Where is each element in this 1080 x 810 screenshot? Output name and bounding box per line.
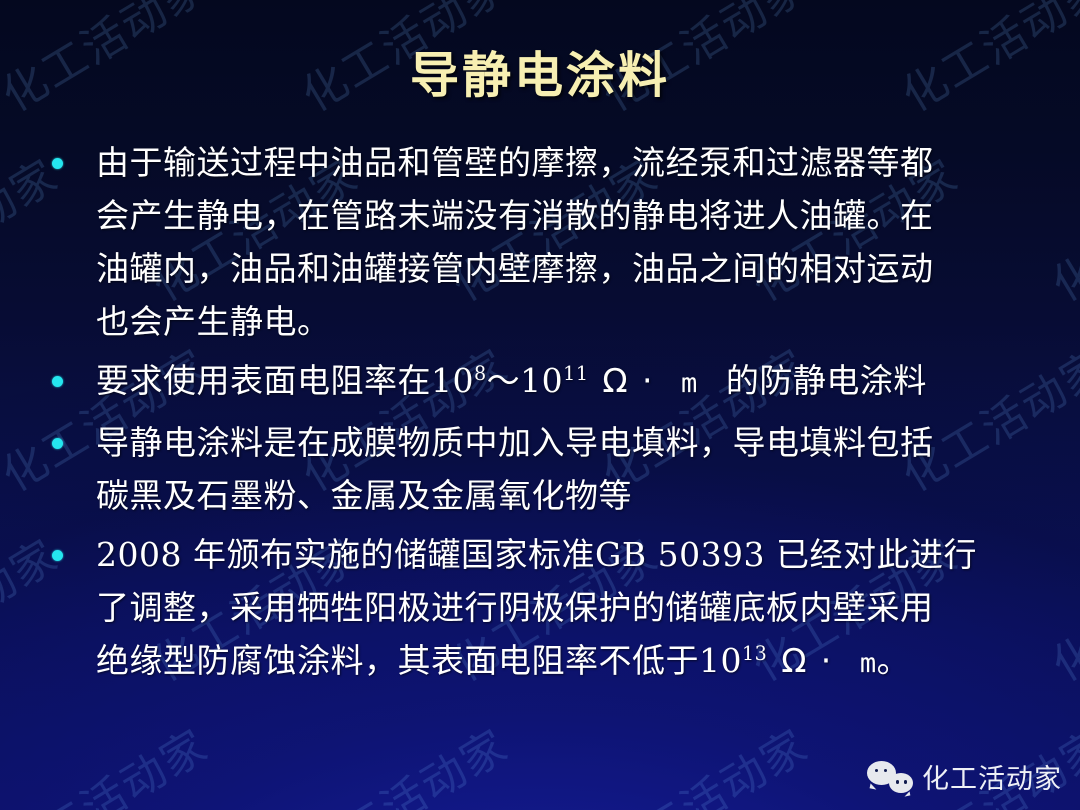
watermark-text: 化工活动家 [1038,140,1080,313]
bullet-marker [52,528,96,565]
page-title: 导静电涂料 [0,36,1080,107]
bullet-item-4: 2008 年颁布实施的储罐国家标准GB 50393 已经对此进行 了调整，采用牺… [52,528,1042,690]
bullet-dot-icon [52,438,63,449]
bullet-marker [52,354,96,391]
wechat-eye [896,780,899,783]
bullet-item-2: 要求使用表面电阻率在108～1011Ω·m的防静电涂料 [52,354,1042,410]
bullet-line: 也会产生静电。 [96,295,1042,348]
bullet-text-1: 由于输送过程中油品和管壁的摩擦，流经泵和过滤器等都 会产生静电，在管路末端没有消… [96,136,1042,348]
bullet-marker [52,136,96,173]
bullet-text-4: 2008 年颁布实施的储罐国家标准GB 50393 已经对此进行 了调整，采用牺… [96,528,1042,690]
wechat-bubble-small [889,773,913,793]
wechat-eye [904,780,907,783]
slide-canvas: 化工活动家化工活动家化工活动家化工活动家化工活动家化工活动家化工活动家化工活动家… [0,0,1080,810]
bullet-line: 要求使用表面电阻率在108～1011Ω·m的防静电涂料 [96,354,1042,410]
bullet-text-2: 要求使用表面电阻率在108～1011Ω·m的防静电涂料 [96,354,1042,410]
bullet-line: 绝缘型防腐蚀涂料，其表面电阻率不低于1013Ω·m。 [96,634,1042,690]
bullet-dot-icon [52,158,63,169]
bullet-line: 油罐内，油品和油罐接管内壁摩擦，油品之间的相对运动 [96,242,1042,295]
watermark-text: 化工活动家 [0,710,218,810]
slide-body: 由于输送过程中油品和管壁的摩擦，流经泵和过滤器等都 会产生静电，在管路末端没有消… [52,136,1042,696]
bullet-line: 了调整，采用牺牲阳极进行阴极保护的储罐底板内壁采用 [96,581,1042,634]
bullet-line: 碳黑及石墨粉、金属及金属氧化物等 [96,469,1042,522]
watermark-text: 化工活动家 [1038,520,1080,693]
bullet-dot-icon [52,376,63,387]
footer-brand: 化工活动家 [867,757,1062,796]
bullet-line: 由于输送过程中油品和管壁的摩擦，流经泵和过滤器等都 [96,136,1042,189]
bullet-line: 导静电涂料是在成膜物质中加入导电填料，导电填料包括 [96,416,1042,469]
wechat-icon [867,761,913,793]
bullet-text-3: 导静电涂料是在成膜物质中加入导电填料，导电填料包括 碳黑及石墨粉、金属及金属氧化… [96,416,1042,522]
brand-name: 化工活动家 [922,757,1062,796]
bullet-line: 2008 年颁布实施的储罐国家标准GB 50393 已经对此进行 [96,528,1042,581]
bullet-item-3: 导静电涂料是在成膜物质中加入导电填料，导电填料包括 碳黑及石墨粉、金属及金属氧化… [52,416,1042,522]
watermark-text: 化工活动家 [288,710,518,810]
bullet-marker [52,416,96,453]
bullet-item-1: 由于输送过程中油品和管壁的摩擦，流经泵和过滤器等都 会产生静电，在管路末端没有消… [52,136,1042,348]
watermark-text: 化工活动家 [588,710,818,810]
bullet-dot-icon [52,550,63,561]
bullet-line: 会产生静电，在管路末端没有消散的静电将进人油罐。在 [96,189,1042,242]
